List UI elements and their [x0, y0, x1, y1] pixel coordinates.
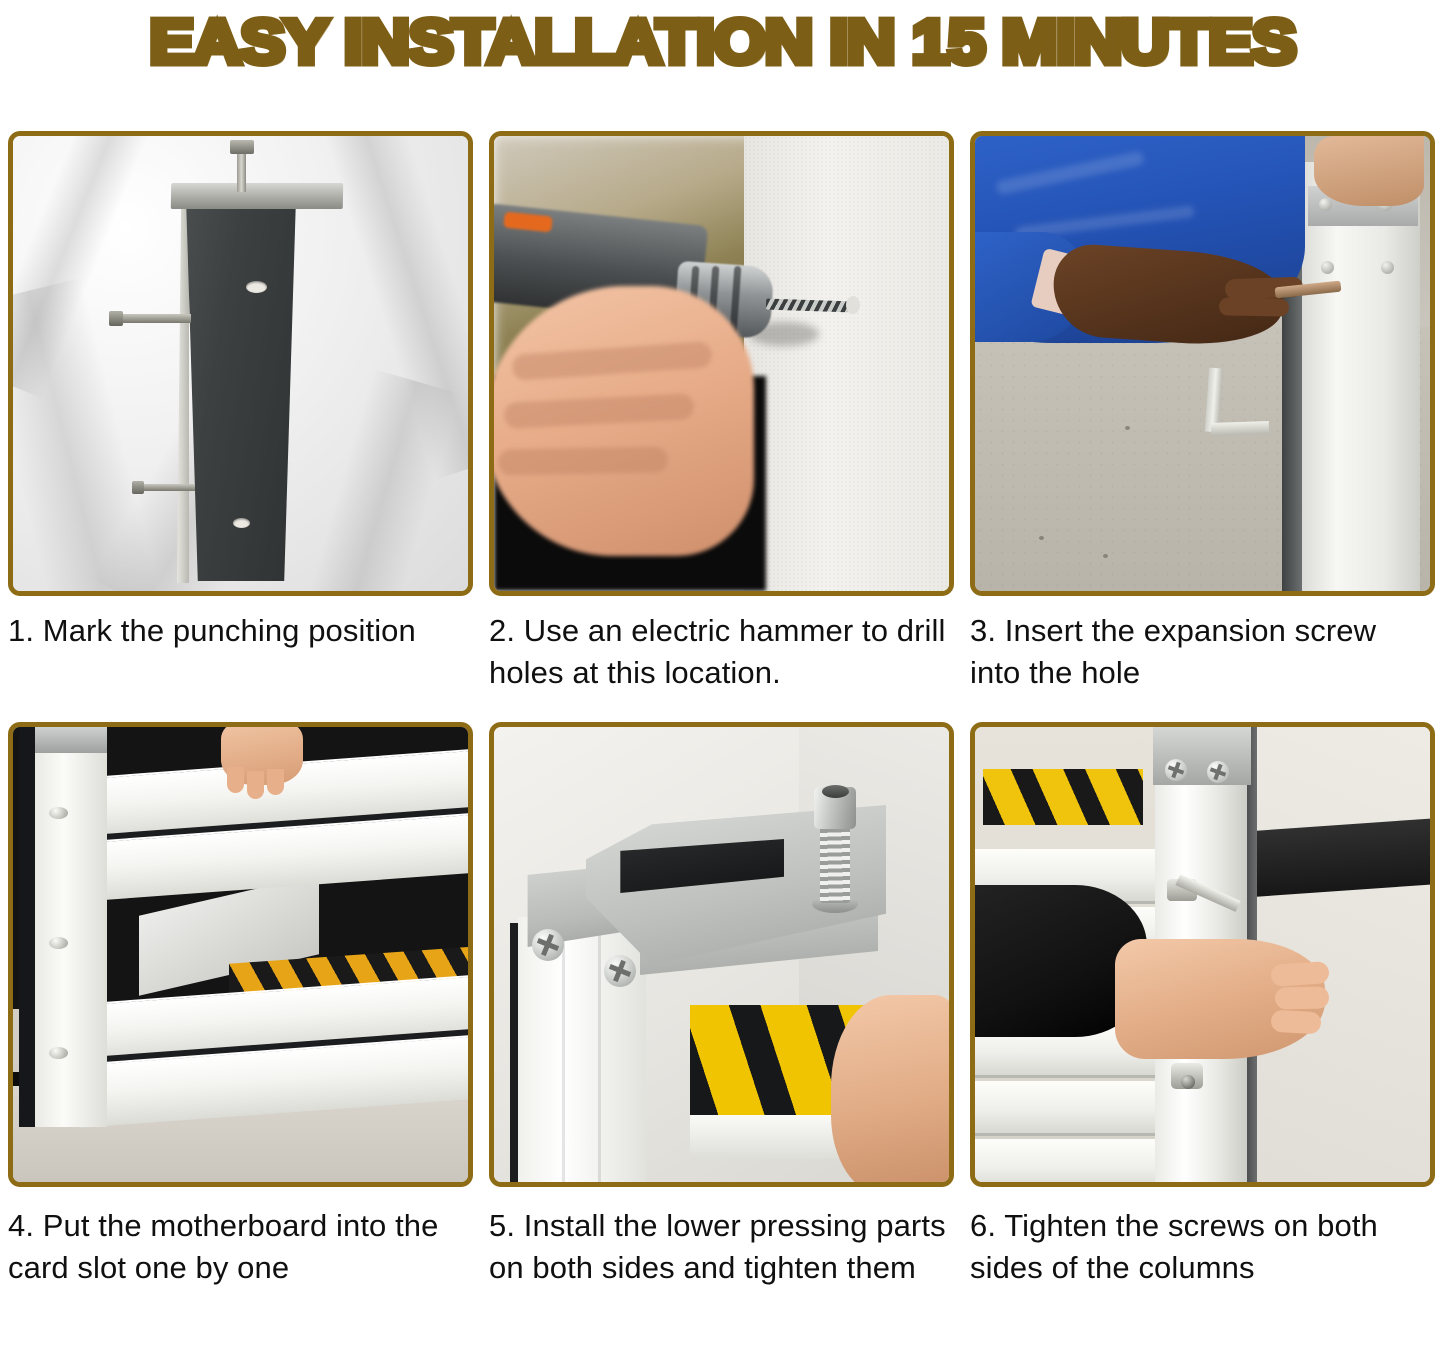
rod-nut [230, 140, 254, 154]
step-card-1: 1. Mark the punching position [0, 131, 481, 694]
drill-bit-tip [846, 296, 860, 314]
steps-row-top: 1. Mark the punching position [0, 131, 1445, 694]
mounting-hole [246, 281, 267, 293]
step-photo-frame-4 [8, 722, 473, 1187]
hand [831, 995, 949, 1182]
cloth-fold [296, 369, 460, 591]
step-caption-1: 1. Mark the punching position [8, 610, 473, 652]
finger [1270, 961, 1329, 987]
column-screw [1321, 261, 1334, 274]
title-banner: EASY INSTALLATION IN 15 MINUTES [0, 0, 1445, 86]
phillips-screw [604, 955, 636, 987]
floor-speck [1039, 536, 1044, 540]
column-shadow-edge [19, 727, 36, 1127]
finger [1275, 987, 1329, 1010]
step-photo-4 [13, 727, 468, 1182]
protruding-bolt [139, 484, 195, 491]
finger [1219, 297, 1289, 316]
upper-hand [1314, 136, 1424, 206]
step-caption-6: 6. Tighten the screws on both sides of t… [970, 1205, 1435, 1289]
column-groove [598, 917, 601, 1182]
column-pin [49, 1047, 68, 1059]
finger [1270, 1010, 1321, 1035]
bolt-thread [820, 825, 850, 903]
page-title: EASY INSTALLATION IN 15 MINUTES [150, 12, 1296, 74]
step-caption-3: 3. Insert the expansion screw into the h… [970, 610, 1435, 694]
installation-guide-page: EASY INSTALLATION IN 15 MINUTES [0, 0, 1445, 1352]
step-photo-frame-1 [8, 131, 473, 596]
step-photo-1 [13, 136, 468, 591]
phillips-screw [532, 929, 564, 961]
step-card-3: 3. Insert the expansion screw into the h… [962, 131, 1443, 694]
step-photo-frame-5 [489, 722, 954, 1187]
bolt-socket [822, 785, 849, 798]
mounting-hole [233, 518, 250, 528]
column-groove [562, 917, 565, 1182]
column-pin [49, 807, 68, 819]
column-screw [1381, 261, 1394, 274]
hazard-stripe [983, 769, 1143, 825]
finger [227, 767, 244, 793]
step-photo-6 [975, 727, 1430, 1182]
steps-grid: 1. Mark the punching position [0, 131, 1445, 1289]
step-caption-2: 2. Use an electric hammer to drill holes… [489, 610, 954, 694]
steps-row-bottom: 4. Put the motherboard into the card slo… [0, 722, 1445, 1289]
column-cap [35, 727, 107, 753]
white-column [1302, 162, 1420, 591]
step-card-6: 6. Tighten the screws on both sides of t… [962, 722, 1443, 1289]
step-caption-4: 4. Put the motherboard into the card slo… [8, 1205, 473, 1289]
white-wall [744, 136, 949, 591]
allen-key-short-arm [1211, 421, 1269, 436]
step-photo-frame-6 [970, 722, 1435, 1187]
column-top-plate [171, 183, 343, 209]
barrier-board [975, 1139, 1161, 1182]
column-screw [1207, 761, 1229, 783]
lower-fitting-hole [1181, 1075, 1195, 1089]
barrier-board [975, 1081, 1161, 1136]
finger [247, 771, 264, 799]
step-card-2: 2. Use an electric hammer to drill holes… [481, 131, 962, 694]
finger [498, 447, 668, 476]
column-screw [1319, 198, 1332, 211]
protruding-bolt [117, 314, 191, 323]
finger [267, 769, 284, 795]
step-photo-5 [494, 727, 949, 1182]
step-photo-3 [975, 136, 1430, 591]
step-card-4: 4. Put the motherboard into the card slo… [0, 722, 481, 1289]
step-photo-frame-2 [489, 131, 954, 596]
floor-speck [1125, 426, 1130, 430]
column-side-edge [177, 198, 189, 583]
step-card-5: 5. Install the lower pressing parts on b… [481, 722, 962, 1289]
step-caption-5: 5. Install the lower pressing parts on b… [489, 1205, 954, 1289]
step-photo-2 [494, 136, 949, 591]
floor-speck [1103, 554, 1108, 558]
step-photo-frame-3 [970, 131, 1435, 596]
row-spacer [0, 694, 1445, 722]
slot-column [35, 727, 107, 1127]
column-screw [1165, 759, 1187, 781]
column-pin [49, 937, 68, 949]
